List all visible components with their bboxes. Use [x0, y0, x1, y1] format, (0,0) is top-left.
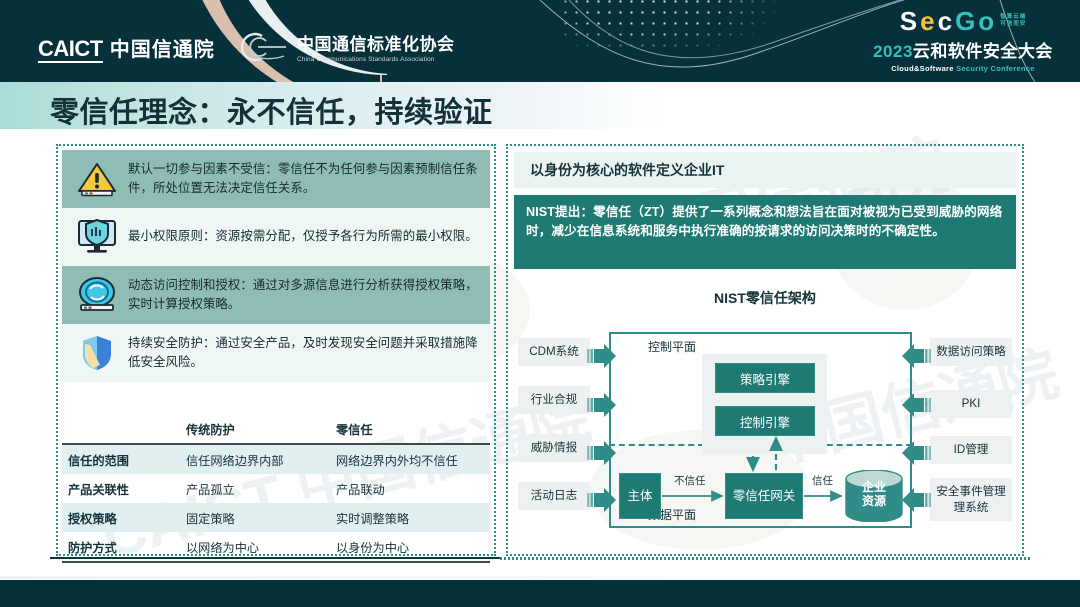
secgo-letter-e: e [920, 8, 935, 34]
col-header-blank [62, 414, 182, 444]
principle-row-1: 默认一切参与因素不受信：零信任不为任何参与因素预制信任条件，所处位置无法决定信任… [62, 150, 490, 208]
footer-bar [0, 580, 1080, 607]
table-row: 信任的范围 信任网络边界内部 网络边界内外均不信任 [62, 444, 490, 474]
footer-rule-dotted [500, 557, 1030, 560]
comparison-table-head: 传统防护 零信任 [62, 414, 490, 444]
row-traditional-2: 产品孤立 [182, 474, 332, 503]
row-zerotrust-2: 产品联动 [332, 474, 490, 503]
row-zerotrust-1: 网络边界内外均不信任 [332, 444, 490, 474]
footer-light-line [0, 576, 1080, 579]
table-row: 授权策略 固定策略 实时调整策略 [62, 503, 490, 532]
caict-chinese-name: 中国信通院 [110, 33, 215, 62]
slide-root: CAICT 中国信通院 中国通信标准化协会 China Communicatio… [0, 0, 1080, 607]
slide-header: CAICT 中国信通院 中国通信标准化协会 China Communicatio… [0, 0, 1080, 82]
principle-row-3: 动态访问控制和授权：通过对多源信息进行分析获得授权策略，实时计算授权策略。 [62, 266, 490, 324]
secgo-tagline-line1: 智算云端 [1000, 14, 1026, 20]
logo-caict: CAICT 中国信通院 [38, 33, 215, 63]
secgo-year: 2023 [873, 42, 913, 61]
secgo-tagline: 智算云端 可信而安 [1000, 14, 1026, 29]
row-label-3: 授权策略 [62, 503, 182, 532]
col-header-traditional: 传统防护 [182, 414, 332, 444]
ccsa-emblem-icon [236, 32, 288, 62]
caict-wordmark: CAICT [38, 38, 103, 63]
footer-rule-left [50, 557, 500, 559]
nist-zero-trust-architecture-diagram: 控制平面 数据平面 策略引擎 控制引擎 CDM系统 行业合规 威胁情报 活动日志… [506, 310, 1024, 550]
row-traditional-1: 信任网络边界内部 [182, 444, 332, 474]
nist-statement-box: NIST提出：零信任（ZT）提供了一系列概念和想法旨在面对被视为已受到威胁的网络… [514, 195, 1016, 269]
row-traditional-3: 固定策略 [182, 503, 332, 532]
page-title: 零信任理念：永不信任，持续验证 [50, 89, 493, 131]
diagram-title: NIST零信任架构 [506, 288, 1024, 308]
principle-text-4: 持续安全防护：通过安全产品，及时发现安全问题并采取措施降低安全风险。 [128, 334, 484, 372]
warning-triangle-icon [66, 156, 128, 202]
secgo-en-part1: Cloud&Software [891, 64, 954, 73]
principle-text-1: 默认一切参与因素不受信：零信任不为任何参与因素预制信任条件，所处位置无法决定信任… [128, 160, 484, 198]
principles-list: 默认一切参与因素不受信：零信任不为任何参与因素预制信任条件，所处位置无法决定信任… [62, 150, 490, 382]
diagram-arrows [506, 310, 1024, 550]
table-row: 产品关联性 产品孤立 产品联动 [62, 474, 490, 503]
principle-text-2: 最小权限原则：资源按需分配，仅授予各行为所需的最小权限。 [128, 227, 478, 246]
secgo-title-cn: 云和软件安全大会 [913, 42, 1053, 61]
comparison-table: 传统防护 零信任 信任的范围 信任网络边界内部 网络边界内外均不信任 产品关联性… [62, 414, 490, 563]
secgo-english-subtitle: Cloud&Software Security Conference [868, 64, 1058, 73]
row-label-2: 产品关联性 [62, 474, 182, 503]
secgo-letter-s: S [900, 8, 918, 34]
ccsa-english-name: China Communications Standards Associati… [297, 56, 455, 63]
logo-secgo-conference: S e c G o 智算云端 可信而安 2023云和软件安全大会 Cloud&S… [868, 8, 1058, 73]
table-header-row: 传统防护 零信任 [62, 414, 490, 444]
secgo-letter-c: c [938, 8, 953, 34]
secgo-en-part2: Security Conference [956, 64, 1035, 73]
principle-row-2: 最小权限原则：资源按需分配，仅授予各行为所需的最小权限。 [62, 208, 490, 266]
logo-ccsa: 中国通信标准化协会 China Communications Standards… [236, 30, 455, 63]
dynamic-cycle-icon [66, 272, 128, 318]
comparison-table-body: 信任的范围 信任网络边界内部 网络边界内外均不信任 产品关联性 产品孤立 产品联… [62, 444, 490, 562]
secgo-conference-title: 2023云和软件安全大会 [868, 37, 1058, 62]
secgo-letter-o: o [978, 8, 995, 34]
shield-icon [66, 330, 128, 376]
ccsa-chinese-name: 中国通信标准化协会 [297, 30, 455, 55]
secgo-tagline-line2: 可信而安 [1000, 21, 1026, 27]
row-label-1: 信任的范围 [62, 444, 182, 474]
secgo-letter-g: G [955, 8, 976, 34]
principle-row-4: 持续安全防护：通过安全产品，及时发现安全问题并采取措施降低安全风险。 [62, 324, 490, 382]
row-zerotrust-3: 实时调整策略 [332, 503, 490, 532]
col-header-zerotrust: 零信任 [332, 414, 490, 444]
software-defined-it-subtitle: 以身份为核心的软件定义企业IT [514, 152, 1016, 188]
monitor-shield-icon [66, 214, 128, 260]
principle-text-3: 动态访问控制和授权：通过对多源信息进行分析获得授权策略，实时计算授权策略。 [128, 276, 484, 314]
secgo-wordmark: S e c G o 智算云端 可信而安 [868, 8, 1058, 34]
